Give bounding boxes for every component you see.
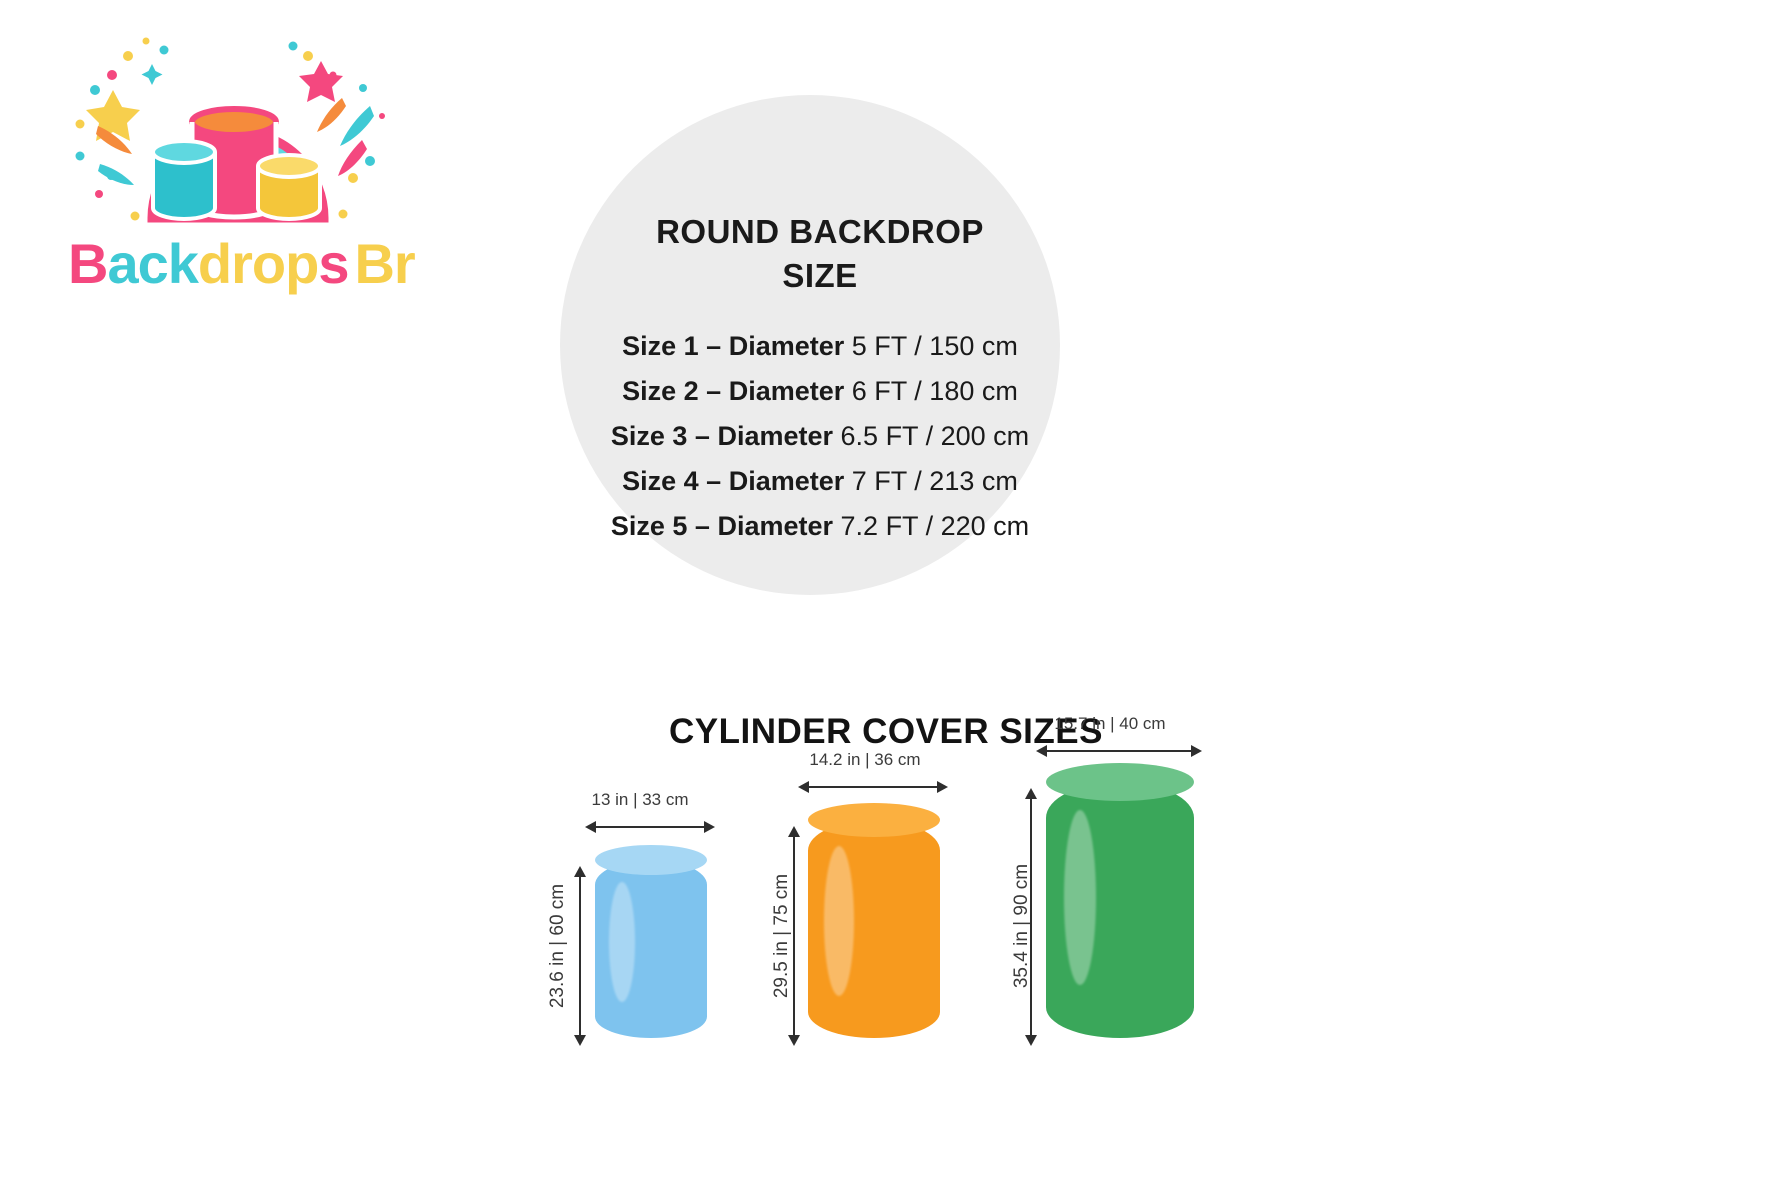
cylinder-small-width-arrow — [595, 826, 705, 828]
brand-logo[interactable]: BackdropsBr — [40, 28, 440, 298]
cylinder-small-width-label: 13 in | 33 cm — [540, 790, 740, 810]
size-row-label: Size 4 – Diameter — [622, 466, 844, 496]
size-row-value: 6 FT / 180 cm — [852, 376, 1018, 406]
size-row-value: 7.2 FT / 220 cm — [841, 511, 1030, 541]
size-row-value: 6.5 FT / 200 cm — [841, 421, 1030, 451]
size-row-label: Size 2 – Diameter — [622, 376, 844, 406]
size-row: Size 1 – Diameter 5 FT / 150 cm — [520, 324, 1120, 369]
cylinder-small: 13 in | 33 cm 23.6 in | 60 cm — [540, 740, 740, 1040]
size-row: Size 4 – Diameter 7 FT / 213 cm — [520, 459, 1120, 504]
cylinder-medium-width-arrow — [808, 786, 938, 788]
size-row-label: Size 5 – Diameter — [611, 511, 833, 541]
cylinder-small-highlight — [609, 882, 635, 1002]
cylinder-medium: 14.2 in | 36 cm 29.5 in | 75 cm — [755, 740, 975, 1040]
cylinder-diagram: 13 in | 33 cm 23.6 in | 60 cm 14.2 in | … — [480, 740, 1240, 1040]
cylinder-large-width-label: 15.7 in | 40 cm — [990, 714, 1230, 734]
cylinder-large-highlight — [1064, 810, 1096, 985]
cylinder-small-body — [595, 860, 707, 1038]
cylinder-medium-body — [808, 820, 940, 1038]
page-root: BackdropsBr ROUND BACKDROP SIZE Size 1 –… — [0, 0, 1772, 1181]
cylinder-large-height-arrow — [1030, 798, 1032, 1036]
cylinder-medium-height-label: 29.5 in | 75 cm — [771, 846, 793, 1026]
size-row: Size 5 – Diameter 7.2 FT / 220 cm — [520, 504, 1120, 549]
brand-wordmark: BackdropsBr — [68, 236, 415, 292]
logo-mark-icon — [40, 28, 400, 243]
size-row-value: 5 FT / 150 cm — [852, 331, 1018, 361]
cylinder-small-height-arrow — [579, 876, 581, 1036]
cylinder-small-height-label: 23.6 in | 60 cm — [547, 866, 569, 1026]
size-row-label: Size 1 – Diameter — [622, 331, 844, 361]
cylinder-large-top — [1046, 763, 1194, 801]
cylinder-medium-highlight — [824, 846, 854, 996]
size-row-value: 7 FT / 213 cm — [852, 466, 1018, 496]
cylinder-large-body — [1046, 782, 1194, 1038]
round-backdrop-title-line1: ROUND BACKDROP — [520, 210, 1120, 254]
cylinder-medium-height-arrow — [793, 836, 795, 1036]
size-row: Size 2 – Diameter 6 FT / 180 cm — [520, 369, 1120, 414]
size-row: Size 3 – Diameter 6.5 FT / 200 cm — [520, 414, 1120, 459]
cylinder-medium-top — [808, 803, 940, 837]
cylinder-large-width-arrow — [1046, 750, 1192, 752]
round-backdrop-title-line2: SIZE — [520, 254, 1120, 298]
cylinder-large: 15.7 in | 40 cm 35.4 in | 90 cm — [990, 740, 1230, 1040]
size-row-label: Size 3 – Diameter — [611, 421, 833, 451]
round-backdrop-info: ROUND BACKDROP SIZE Size 1 – Diameter 5 … — [520, 210, 1120, 549]
cylinder-medium-width-label: 14.2 in | 36 cm — [755, 750, 975, 770]
cylinder-small-top — [595, 845, 707, 875]
round-backdrop-title: ROUND BACKDROP SIZE — [520, 210, 1120, 298]
